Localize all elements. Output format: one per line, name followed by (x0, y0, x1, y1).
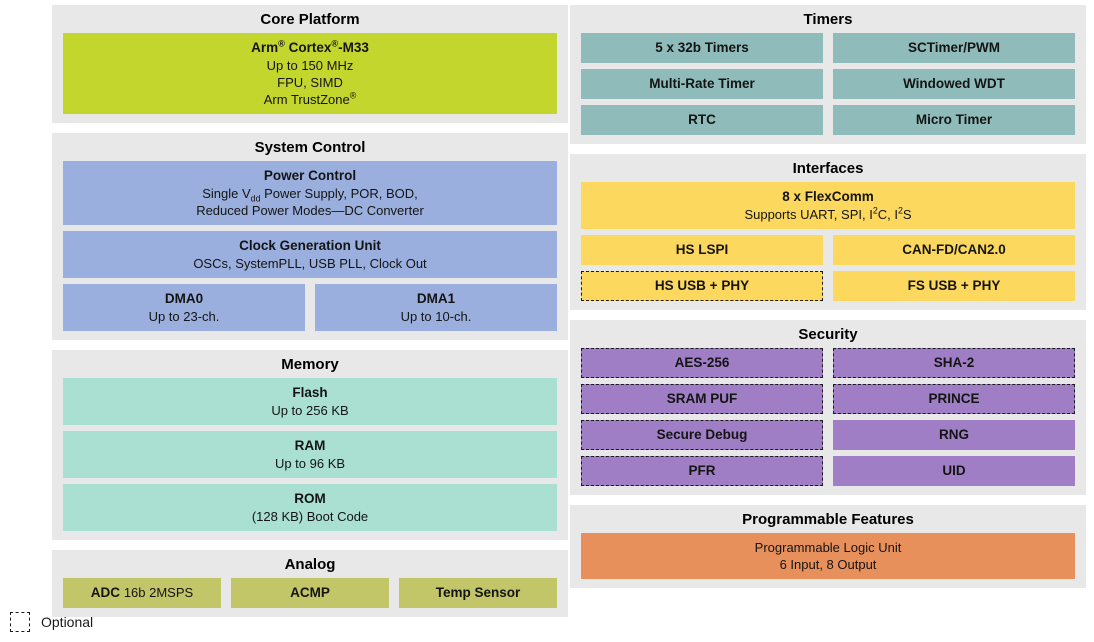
block-subtitle: Up to 256 KB (68, 402, 552, 419)
block-subtitle-text: 16b 2MSPS (124, 585, 193, 600)
panel-title: System Control (63, 137, 557, 161)
block-title: SCTimer/PWM (838, 39, 1070, 57)
block-title: Flash (68, 384, 552, 402)
block-arm-cortex-m33[interactable]: Arm® Cortex®-M33Up to 150 MHzFPU, SIMDAr… (63, 33, 557, 114)
block-fs-usb-phy[interactable]: FS USB + PHY (833, 271, 1075, 301)
block-title: PFR (586, 462, 818, 480)
block-row: Clock Generation UnitOSCs, SystemPLL, US… (63, 231, 557, 278)
panel-memory: MemoryFlashUp to 256 KBRAMUp to 96 KBROM… (52, 350, 568, 540)
block-5-x-32b-timers[interactable]: 5 x 32b Timers (581, 33, 823, 63)
block-title: ADC 16b 2MSPS (68, 584, 216, 602)
block-secure-debug[interactable]: Secure Debug (581, 420, 823, 450)
block-hs-lspi[interactable]: HS LSPI (581, 235, 823, 265)
block-subtitle: Up to 10-ch. (320, 308, 552, 325)
block-subtitle: Up to 23-ch. (68, 308, 300, 325)
block-sram-puf[interactable]: SRAM PUF (581, 384, 823, 414)
block-title: ROM (68, 490, 552, 508)
block-rng[interactable]: RNG (833, 420, 1075, 450)
block-title: Windowed WDT (838, 75, 1070, 93)
block-title: Micro Timer (838, 111, 1070, 129)
block-acmp[interactable]: ACMP (231, 578, 389, 608)
block-row: SRAM PUFPRINCE (581, 384, 1075, 414)
block-micro-timer[interactable]: Micro Timer (833, 105, 1075, 135)
block-row: Programmable Logic Unit6 Input, 8 Output (581, 533, 1075, 579)
block-title: HS LSPI (586, 241, 818, 259)
block-title: AES-256 (586, 354, 818, 372)
block-multi-rate-timer[interactable]: Multi-Rate Timer (581, 69, 823, 99)
block-title: DMA0 (68, 290, 300, 308)
block-title: HS USB + PHY (586, 277, 818, 295)
block-title-text: ADC (91, 585, 120, 600)
panel-title: Core Platform (63, 9, 557, 33)
block-row: RTCMicro Timer (581, 105, 1075, 135)
panel-analog: AnalogADC 16b 2MSPSACMPTemp Sensor (52, 550, 568, 617)
block-pfr[interactable]: PFR (581, 456, 823, 486)
block-sha-2[interactable]: SHA-2 (833, 348, 1075, 378)
block-row: Secure DebugRNG (581, 420, 1075, 450)
block-row: 8 x FlexCommSupports UART, SPI, I2C, I2S (581, 182, 1075, 229)
block-row: 5 x 32b TimersSCTimer/PWM (581, 33, 1075, 63)
block-row: HS LSPICAN-FD/CAN2.0 (581, 235, 1075, 265)
block-title: Temp Sensor (404, 584, 552, 602)
block-row: FlashUp to 256 KB (63, 378, 557, 425)
block-row: Power ControlSingle Vdd Power Supply, PO… (63, 161, 557, 225)
block-flash[interactable]: FlashUp to 256 KB (63, 378, 557, 425)
block-hs-usb-phy[interactable]: HS USB + PHY (581, 271, 823, 301)
block-title: CAN-FD/CAN2.0 (838, 241, 1070, 259)
block-subtitle: Supports UART, SPI, I2C, I2S (586, 206, 1070, 223)
dashed-square-icon (10, 612, 30, 632)
block-windowed-wdt[interactable]: Windowed WDT (833, 69, 1075, 99)
block-rtc[interactable]: RTC (581, 105, 823, 135)
panel-system-control: System ControlPower ControlSingle Vdd Po… (52, 133, 568, 340)
block-title: FS USB + PHY (838, 277, 1070, 295)
panel-title: Analog (63, 554, 557, 578)
legend: Optional (10, 612, 93, 632)
block-subtitle: OSCs, SystemPLL, USB PLL, Clock Out (68, 255, 552, 272)
block-uid[interactable]: UID (833, 456, 1075, 486)
block-subtitle: (128 KB) Boot Code (68, 508, 552, 525)
block-dma0[interactable]: DMA0Up to 23-ch. (63, 284, 305, 331)
block-subtitle: Programmable Logic Unit6 Input, 8 Output (586, 539, 1070, 573)
block-title: UID (838, 462, 1070, 480)
block-row: ADC 16b 2MSPSACMPTemp Sensor (63, 578, 557, 608)
block-temp-sensor[interactable]: Temp Sensor (399, 578, 557, 608)
block-row: RAMUp to 96 KB (63, 431, 557, 478)
block-8-x-flexcomm[interactable]: 8 x FlexCommSupports UART, SPI, I2C, I2S (581, 182, 1075, 229)
block-dma1[interactable]: DMA1Up to 10-ch. (315, 284, 557, 331)
block-diagram: Core PlatformArm® Cortex®-M33Up to 150 M… (0, 0, 1094, 642)
block-row: Arm® Cortex®-M33Up to 150 MHzFPU, SIMDAr… (63, 33, 557, 114)
panel-programmable-features: Programmable FeaturesProgrammable Logic … (570, 505, 1086, 588)
block-row: DMA0Up to 23-ch.DMA1Up to 10-ch. (63, 284, 557, 331)
block-title: Secure Debug (586, 426, 818, 444)
block-title: Clock Generation Unit (68, 237, 552, 255)
block-title: RNG (838, 426, 1070, 444)
block-sctimer-pwm[interactable]: SCTimer/PWM (833, 33, 1075, 63)
block-title: SRAM PUF (586, 390, 818, 408)
block-prince[interactable]: PRINCE (833, 384, 1075, 414)
legend-label: Optional (41, 614, 93, 630)
block-title: 8 x FlexComm (586, 188, 1070, 206)
block-row: AES-256SHA-2 (581, 348, 1075, 378)
block-ram[interactable]: RAMUp to 96 KB (63, 431, 557, 478)
block-rom[interactable]: ROM(128 KB) Boot Code (63, 484, 557, 531)
block-row: Multi-Rate TimerWindowed WDT (581, 69, 1075, 99)
panel-interfaces: Interfaces8 x FlexCommSupports UART, SPI… (570, 154, 1086, 310)
panel-title: Timers (581, 9, 1075, 33)
block-subtitle: Single Vdd Power Supply, POR, BOD,Reduce… (68, 185, 552, 219)
block-title: Power Control (68, 167, 552, 185)
panel-security: SecurityAES-256SHA-2SRAM PUFPRINCESecure… (570, 320, 1086, 495)
block-title: SHA-2 (838, 354, 1070, 372)
block-title: ACMP (236, 584, 384, 602)
block-title: PRINCE (838, 390, 1070, 408)
block-title: DMA1 (320, 290, 552, 308)
block-adc[interactable]: ADC 16b 2MSPS (63, 578, 221, 608)
block-can-fd-can2-0[interactable]: CAN-FD/CAN2.0 (833, 235, 1075, 265)
block-subtitle: Up to 96 KB (68, 455, 552, 472)
block-subtitle: Up to 150 MHzFPU, SIMDArm TrustZone® (68, 57, 552, 108)
block-aes-256[interactable]: AES-256 (581, 348, 823, 378)
panel-title: Interfaces (581, 158, 1075, 182)
panel-timers: Timers5 x 32b TimersSCTimer/PWMMulti-Rat… (570, 5, 1086, 144)
panel-title: Memory (63, 354, 557, 378)
block-title: RTC (586, 111, 818, 129)
block-title: RAM (68, 437, 552, 455)
block-row: PFRUID (581, 456, 1075, 486)
panel-core-platform: Core PlatformArm® Cortex®-M33Up to 150 M… (52, 5, 568, 123)
panel-title: Programmable Features (581, 509, 1075, 533)
panel-title: Security (581, 324, 1075, 348)
block-title: 5 x 32b Timers (586, 39, 818, 57)
block-row: ROM(128 KB) Boot Code (63, 484, 557, 531)
block-title: Arm® Cortex®-M33 (68, 39, 552, 57)
block-power-control[interactable]: Power ControlSingle Vdd Power Supply, PO… (63, 161, 557, 225)
block-title: Multi-Rate Timer (586, 75, 818, 93)
block-clock-generation-unit[interactable]: Clock Generation UnitOSCs, SystemPLL, US… (63, 231, 557, 278)
block-programmable-logic-unit-6-input-8-output[interactable]: Programmable Logic Unit6 Input, 8 Output (581, 533, 1075, 579)
right-column: Timers5 x 32b TimersSCTimer/PWMMulti-Rat… (570, 5, 1086, 598)
left-column: Core PlatformArm® Cortex®-M33Up to 150 M… (52, 5, 568, 627)
block-row: HS USB + PHYFS USB + PHY (581, 271, 1075, 301)
